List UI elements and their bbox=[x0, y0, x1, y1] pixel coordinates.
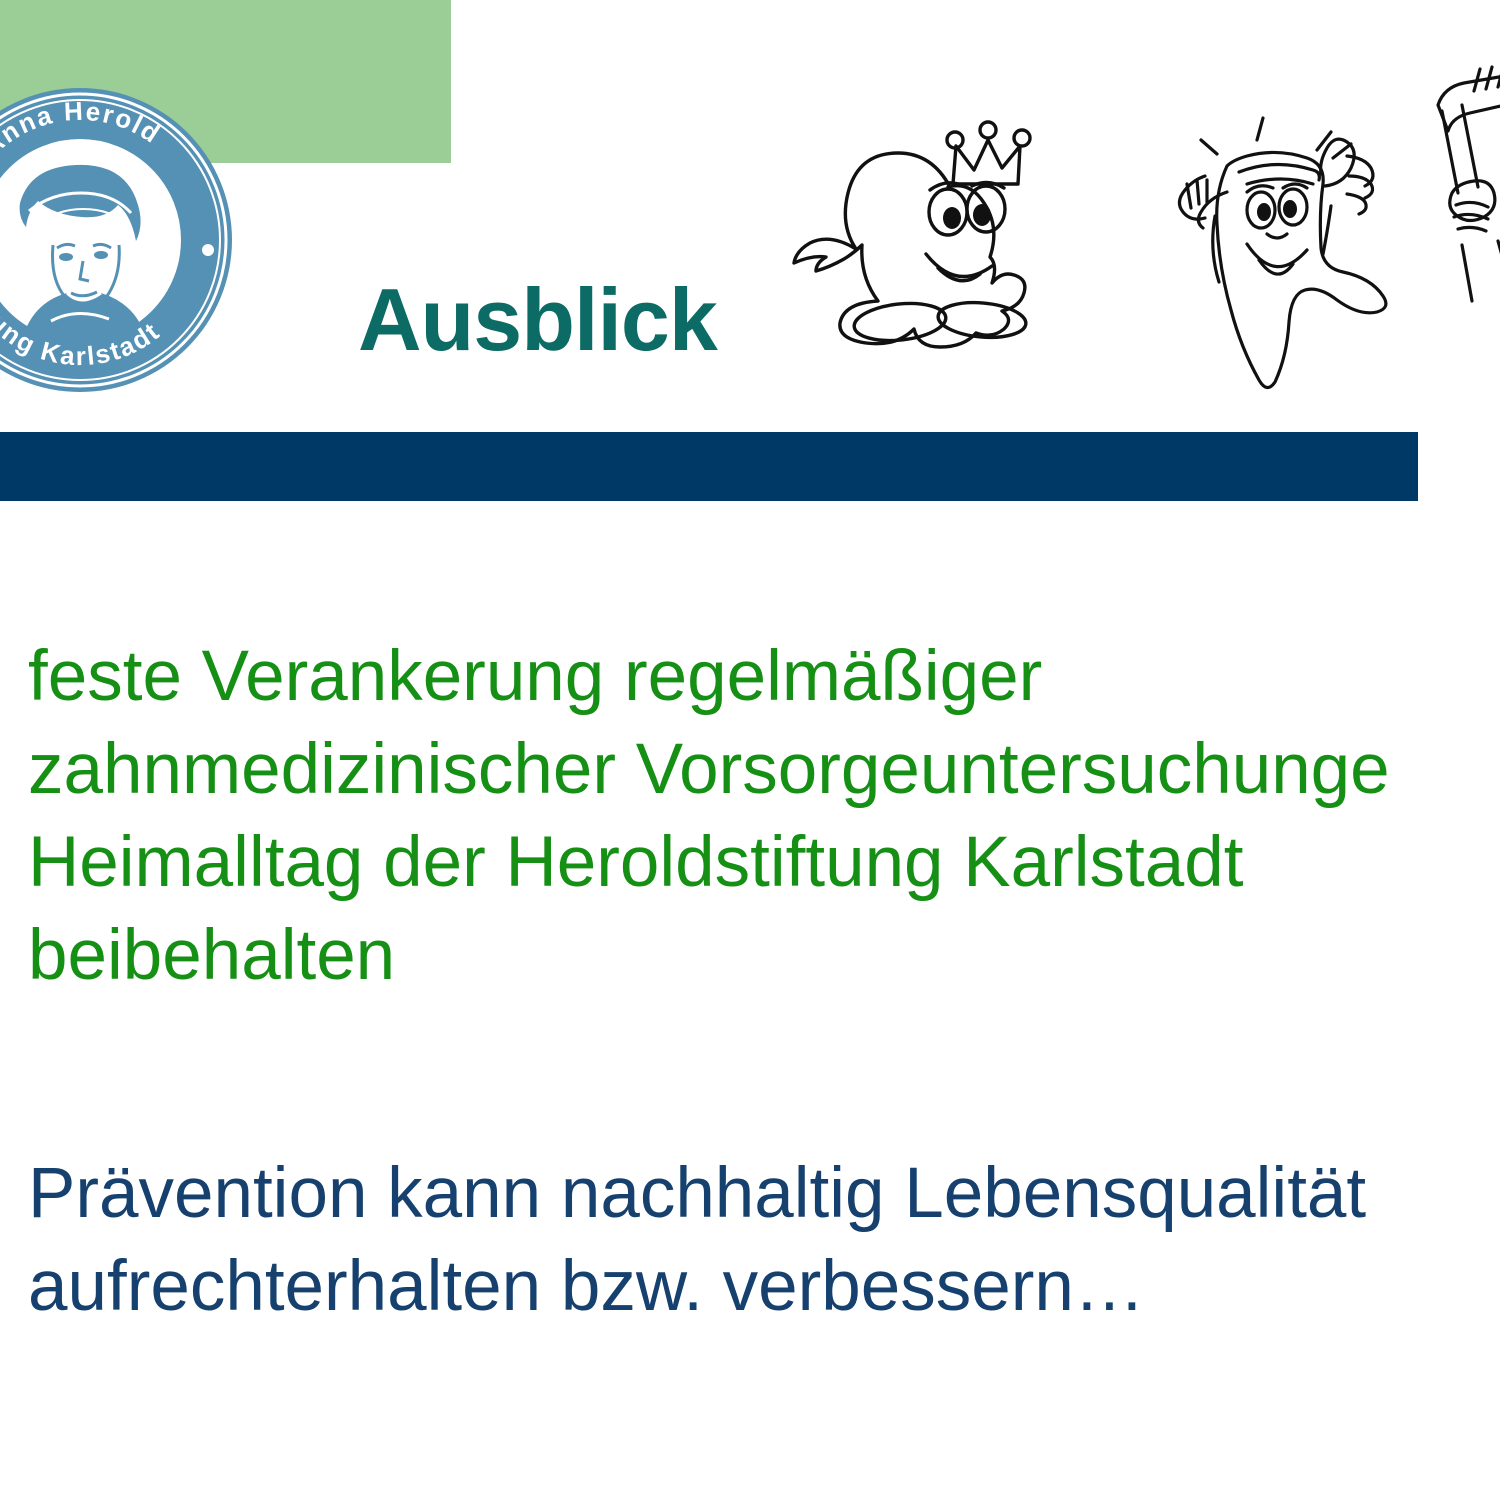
logo-anna-herold-seal: Anna Herold ftung Karlstadt bbox=[0, 85, 235, 395]
bullet-spacer bbox=[0, 1002, 1500, 1147]
bullet-line: Prävention kann nachhaltig Lebensqualitä… bbox=[28, 1147, 1500, 1240]
tooth-with-crown-icon bbox=[790, 72, 1110, 372]
bullet-line: zahnmedizinischer Vorsorgeuntersuchunge bbox=[28, 723, 1500, 816]
page-title: Ausblick bbox=[358, 276, 717, 364]
bullet-item-1: feste Verankerung regelmäßiger zahnmediz… bbox=[0, 630, 1500, 1002]
header-navy-bar bbox=[0, 432, 1418, 501]
bullet-line: Heimalltag der Heroldstiftung Karlstadt bbox=[28, 816, 1500, 909]
bullet-line: beibehalten bbox=[28, 909, 1500, 1002]
bullet-line: feste Verankerung regelmäßiger bbox=[28, 630, 1500, 723]
toothbrush-in-hand-icon bbox=[1432, 55, 1500, 305]
tooth-thumbs-up-icon bbox=[1135, 88, 1425, 423]
slide-body: feste Verankerung regelmäßiger zahnmediz… bbox=[0, 630, 1500, 1333]
bullet-line: aufrechterhalten bzw. verbessern… bbox=[28, 1240, 1500, 1333]
bullet-item-2: Prävention kann nachhaltig Lebensqualitä… bbox=[0, 1147, 1500, 1333]
